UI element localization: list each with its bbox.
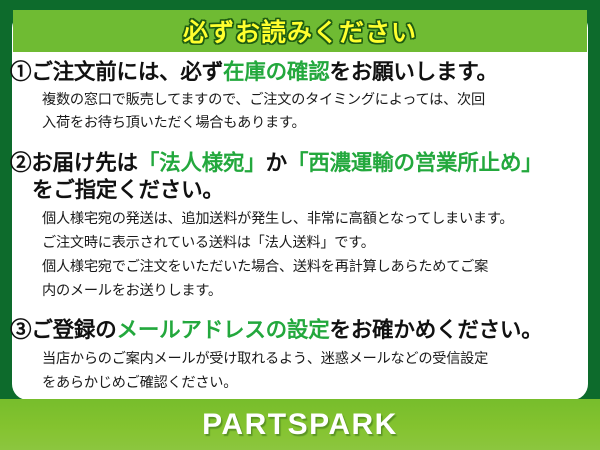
item-3-sub-line-1: 当店からのご案内メールが受け取れるよう、迷惑メールなどの受信設定 [10, 349, 590, 369]
item-1-sub-line-2: 入荷をお待ち頂いただく場合もあります。 [10, 113, 590, 133]
item-1-highlight: 在庫の確認 [223, 60, 330, 84]
item-2-headline: ②お届け先は「法人様宛」か「西濃運輸の営業所止め」 [10, 150, 590, 178]
item-3-headline: ③ご登録のメールアドレスの設定をお確かめください。 [10, 317, 590, 345]
item-2-marker: ② [10, 151, 31, 175]
item-2-highlight-2: 「西濃運輸の営業所止め」 [287, 151, 543, 175]
notice-item-1: ①ご注文前には、必ず在庫の確認をお願いします。 複数の窓口で販売してますので、ご… [10, 59, 590, 133]
item-3-part-2: をお確かめください。 [330, 318, 543, 342]
item-3-sub-line-2: をあらかじめご確認ください。 [10, 373, 590, 393]
item-1-sub-line-1: 複数の窓口で販売してますので、ご注文のタイミングによっては、次回 [10, 90, 590, 110]
notice-item-3: ③ご登録のメールアドレスの設定をお確かめください。 当店からのご案内メールが受け… [10, 317, 590, 393]
footer-bar: PARTSPARK [0, 399, 600, 450]
item-3-marker: ③ [10, 318, 31, 342]
item-2-sub-line-2: ご注文時に表示されている送料は「法人送料」です。 [10, 233, 590, 253]
outer-frame: 必ずお読みください ①ご注文前には、必ず在庫の確認をお願いします。 複数の窓口で… [0, 0, 600, 450]
item-2-part-0: お届け先は [31, 151, 138, 175]
item-1-part-0: ご注文前には、必ず [31, 60, 223, 84]
item-1-headline: ①ご注文前には、必ず在庫の確認をお願いします。 [10, 59, 590, 87]
notice-item-2: ②お届け先は「法人様宛」か「西濃運輸の営業所止め」 をご指定ください。 個人様宅… [10, 150, 590, 302]
item-2-sub-line-3: 個人様宅宛でご注文をいただいた場合、送料を再計算しあらためてご案 [10, 257, 590, 277]
item-2-sub-line-1: 個人様宅宛の発送は、追加送料が発生し、非常に高額となってしまいます。 [10, 209, 590, 229]
item-2-highlight-1: 「法人様宛」 [138, 151, 266, 175]
brand-logo: PARTSPARK [202, 408, 398, 442]
item-2-headline-continuation: をご指定ください。 [10, 177, 590, 205]
item-1-part-2: をお願いします。 [330, 60, 498, 84]
notice-items: ①ご注文前には、必ず在庫の確認をお願いします。 複数の窓口で販売してますので、ご… [10, 58, 590, 446]
item-1-marker: ① [10, 60, 31, 84]
notice-banner: 必ずお読みください [13, 10, 587, 52]
banner-title: 必ずお読みください [183, 13, 417, 49]
item-2-sub-line-4: 内のメールをお送りします。 [10, 281, 590, 301]
item-3-part-0: ご登録の [31, 318, 116, 342]
item-2-part-2: か [266, 151, 287, 175]
item-3-highlight: メールアドレスの設定 [117, 318, 330, 342]
